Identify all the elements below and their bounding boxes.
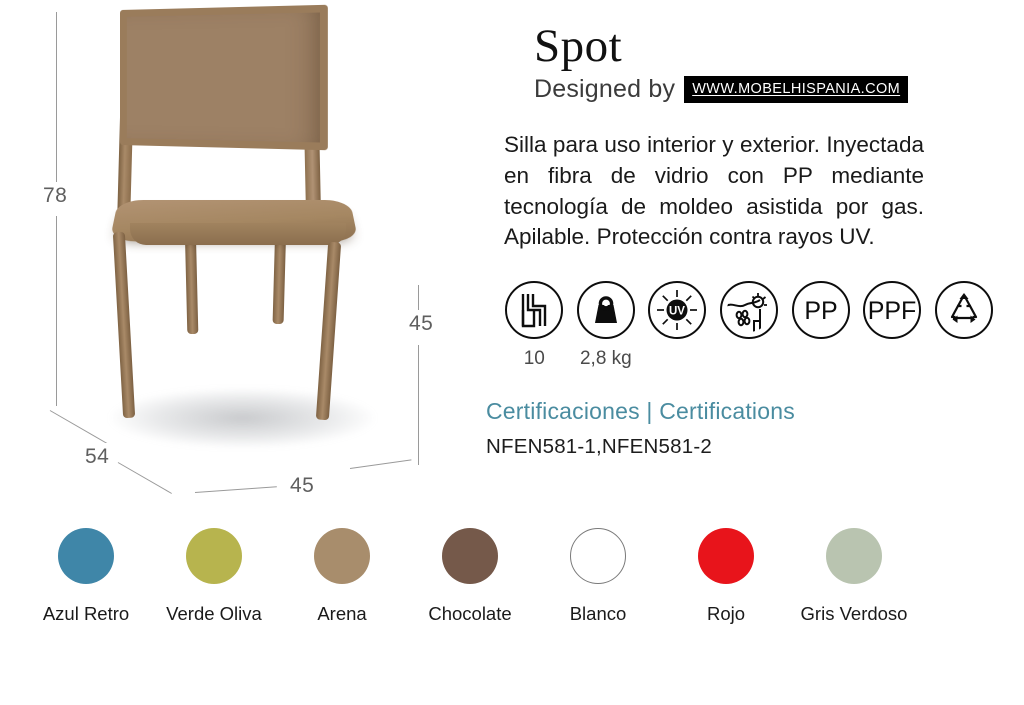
swatch-dot bbox=[826, 528, 882, 584]
description-line-1: Silla para uso interior y exterior. bbox=[504, 132, 820, 157]
chair-photo bbox=[108, 10, 378, 430]
description-line-5: Protección contra rayos UV. bbox=[597, 224, 875, 249]
icon-cell-stacking: 10 bbox=[504, 281, 565, 370]
swatch-label: Azul Retro bbox=[43, 603, 129, 625]
product-info-panel: Spot Designed by WWW.MOBELHISPANIA.COM S… bbox=[460, 0, 1024, 520]
color-swatch-verde-oliva[interactable]: Verde Oliva bbox=[150, 528, 278, 625]
swatch-label: Blanco bbox=[570, 603, 627, 625]
icon-cell-ppf: PPF bbox=[862, 281, 923, 348]
height-dimension-line-upper bbox=[56, 12, 57, 182]
swatch-label: Gris Verdoso bbox=[801, 603, 908, 625]
swatch-dot bbox=[314, 528, 370, 584]
uv-protection-icon: UV bbox=[648, 281, 706, 339]
pp-material-icon: PP bbox=[792, 281, 850, 339]
weather-resistant-icon bbox=[720, 281, 778, 339]
product-description: Silla para uso interior y exterior. Inye… bbox=[504, 130, 924, 252]
icon-cell-recyclable bbox=[933, 281, 994, 348]
stacking-icon bbox=[505, 281, 563, 339]
ppf-material-icon: PPF bbox=[863, 281, 921, 339]
color-swatch-row: Azul Retro Verde Oliva Arena Chocolate B… bbox=[0, 528, 1024, 648]
seat-height-dimension-line-lower bbox=[418, 345, 419, 465]
height-dimension-label: 78 bbox=[38, 182, 72, 210]
swatch-label: Rojo bbox=[707, 603, 745, 625]
swatch-dot bbox=[698, 528, 754, 584]
icon-cell-pp: PP bbox=[790, 281, 851, 348]
designed-by-label: Designed by bbox=[534, 75, 675, 104]
chair-front-left-leg bbox=[113, 232, 135, 418]
uv-icon-text: UV bbox=[669, 305, 685, 317]
designed-by-row: Designed by WWW.MOBELHISPANIA.COM bbox=[534, 75, 994, 104]
weight-value-label: 2,8 kg bbox=[580, 348, 632, 370]
product-sheet: 78 45 54 45 Spot Designed by WWW.MOBELHI… bbox=[0, 0, 1024, 705]
icon-cell-weather bbox=[719, 281, 780, 348]
chair-front-right-leg bbox=[316, 242, 341, 420]
feature-icon-strip: 10 2,8 kg bbox=[504, 281, 994, 370]
width-dimension-line-right bbox=[350, 459, 412, 469]
color-swatch-rojo[interactable]: Rojo bbox=[662, 528, 790, 625]
height-dimension-line-lower bbox=[56, 216, 57, 406]
certifications-heading: Certificaciones | Certifications bbox=[486, 398, 994, 425]
swatch-dot bbox=[186, 528, 242, 584]
swatch-label: Verde Oliva bbox=[166, 603, 262, 625]
swatch-dot bbox=[58, 528, 114, 584]
swatch-dot bbox=[570, 528, 626, 584]
depth-dimension-line-upper bbox=[50, 410, 109, 445]
seat-height-dimension-label: 45 bbox=[404, 310, 438, 338]
icon-cell-weight: 2,8 kg bbox=[576, 281, 637, 370]
swatch-dot bbox=[442, 528, 498, 584]
swatch-label: Chocolate bbox=[428, 603, 511, 625]
weight-icon bbox=[577, 281, 635, 339]
certifications-value: NFEN581-1,NFEN581-2 bbox=[486, 435, 994, 459]
width-dimension-label: 45 bbox=[285, 472, 319, 500]
chair-seat-front-edge bbox=[130, 223, 346, 245]
color-swatch-azul-retro[interactable]: Azul Retro bbox=[22, 528, 150, 625]
color-swatch-blanco[interactable]: Blanco bbox=[534, 528, 662, 625]
page-title: Spot bbox=[534, 22, 994, 71]
color-swatch-gris-verdoso[interactable]: Gris Verdoso bbox=[790, 528, 918, 625]
brand-url-text: WWW.MOBELHISPANIA.COM bbox=[692, 81, 900, 97]
recyclable-icon bbox=[935, 281, 993, 339]
chair-perforated-backrest bbox=[120, 5, 328, 150]
ppf-icon-text: PPF bbox=[868, 297, 917, 325]
product-photo-panel: 78 45 54 45 bbox=[0, 0, 460, 520]
pp-icon-text: PP bbox=[804, 297, 837, 325]
color-swatch-chocolate[interactable]: Chocolate bbox=[406, 528, 534, 625]
icon-cell-uv: UV bbox=[647, 281, 708, 348]
depth-dimension-line-lower bbox=[118, 462, 172, 494]
brand-url-tag[interactable]: WWW.MOBELHISPANIA.COM bbox=[684, 76, 908, 103]
stacking-count-label: 10 bbox=[524, 348, 545, 370]
depth-dimension-label: 54 bbox=[80, 443, 114, 471]
swatch-label: Arena bbox=[317, 603, 366, 625]
width-dimension-line-left bbox=[195, 486, 277, 493]
color-swatch-arena[interactable]: Arena bbox=[278, 528, 406, 625]
